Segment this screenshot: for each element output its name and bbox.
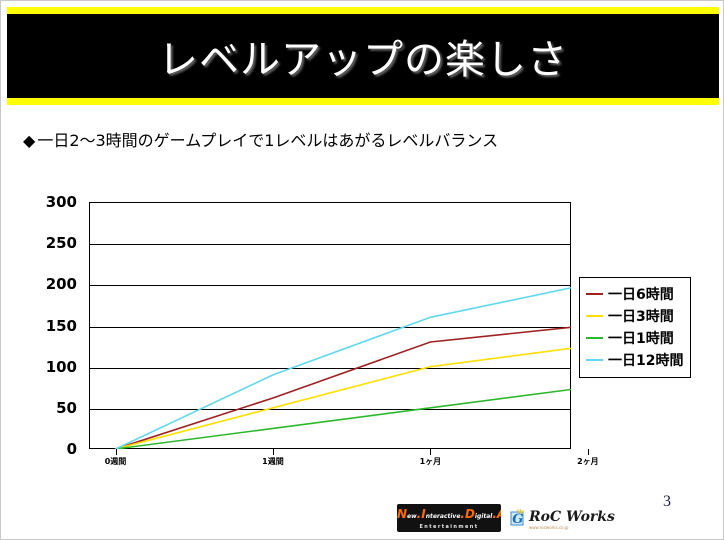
x-axis-tick-label: 0週間	[81, 456, 151, 467]
x-axis-tick-mark	[273, 449, 274, 455]
slide-canvas: レベルアップの楽しさ ◆一日2～3時間のゲームプレイで1レベルはあがるレベルバラ…	[0, 0, 724, 540]
rocworks-url: www.rocworks.co.jp	[529, 525, 568, 530]
legend-color-swatch	[586, 359, 603, 361]
legend-item: 一日3時間	[586, 305, 683, 327]
y-axis-tick-label: 300	[17, 193, 77, 211]
chart-series-line	[116, 309, 572, 449]
nida-logo: New.Interactive.Digital.Arts. Entertainm…	[397, 504, 501, 532]
page-number: 3	[663, 493, 671, 511]
x-axis-tick-mark	[116, 449, 117, 455]
y-axis-tick-label: 200	[17, 275, 77, 293]
x-axis-tick-label: 1週間	[238, 456, 308, 467]
legend-color-swatch	[586, 293, 603, 295]
bullet-line: ◆一日2～3時間のゲームプレイで1レベルはあがるレベルバランス	[23, 127, 498, 151]
legend-item-label: 一日12時間	[608, 350, 683, 370]
rocworks-mark-icon: G	[509, 507, 527, 527]
x-axis-tick-label: 1ヶ月	[395, 456, 465, 467]
page-title: レベルアップの楽しさ	[7, 27, 719, 85]
nida-logo-n-word: ew	[407, 513, 417, 520]
legend-item: 一日6時間	[586, 283, 683, 305]
legend-item-label: 一日3時間	[608, 306, 674, 326]
rocworks-wordmark: RoC Works	[529, 509, 615, 525]
chart-series-line	[116, 268, 572, 449]
y-axis-tick-label: 150	[17, 317, 77, 335]
y-axis-tick-label: 50	[17, 399, 77, 417]
y-axis-tick-label: 0	[17, 440, 77, 458]
legend-item: 一日1時間	[586, 327, 683, 349]
x-axis-tick-label: 3ヶ月	[710, 456, 724, 467]
y-axis-tick-label: 100	[17, 358, 77, 376]
diamond-bullet-icon: ◆	[23, 131, 35, 150]
x-axis-tick-mark	[588, 449, 589, 455]
nida-logo-tagline: Entertainment	[397, 524, 501, 530]
bullet-text: 一日2～3時間のゲームプレイで1レベルはあがるレベルバランス	[37, 131, 498, 150]
x-axis-tick-mark	[430, 449, 431, 455]
level-progress-chart: 050100150200250300 0週間1週間1ヶ月2ヶ月3ヶ月5ヶ月 一日…	[15, 189, 705, 479]
legend-item-label: 一日6時間	[608, 284, 674, 304]
y-axis-tick-label: 250	[17, 234, 77, 252]
rocworks-logo: G RoC Works www.rocworks.co.jp	[509, 504, 595, 532]
svg-text:G: G	[512, 512, 523, 527]
legend-color-swatch	[586, 337, 603, 339]
nida-logo-i-word: nteractive	[426, 513, 461, 520]
nida-logo-d-word: igital	[475, 513, 492, 520]
chart-series-layer	[89, 202, 571, 449]
legend-item: 一日12時間	[586, 349, 683, 371]
nida-logo-wordmark: New.Interactive.Digital.Arts.	[397, 507, 501, 521]
legend-color-swatch	[586, 315, 603, 317]
title-banner: レベルアップの楽しさ	[7, 7, 719, 105]
chart-series-line	[116, 243, 572, 449]
legend-item-label: 一日1時間	[608, 328, 674, 348]
x-axis-tick-label: 2ヶ月	[553, 456, 623, 467]
chart-legend: 一日6時間一日3時間一日1時間一日12時間	[579, 277, 691, 378]
